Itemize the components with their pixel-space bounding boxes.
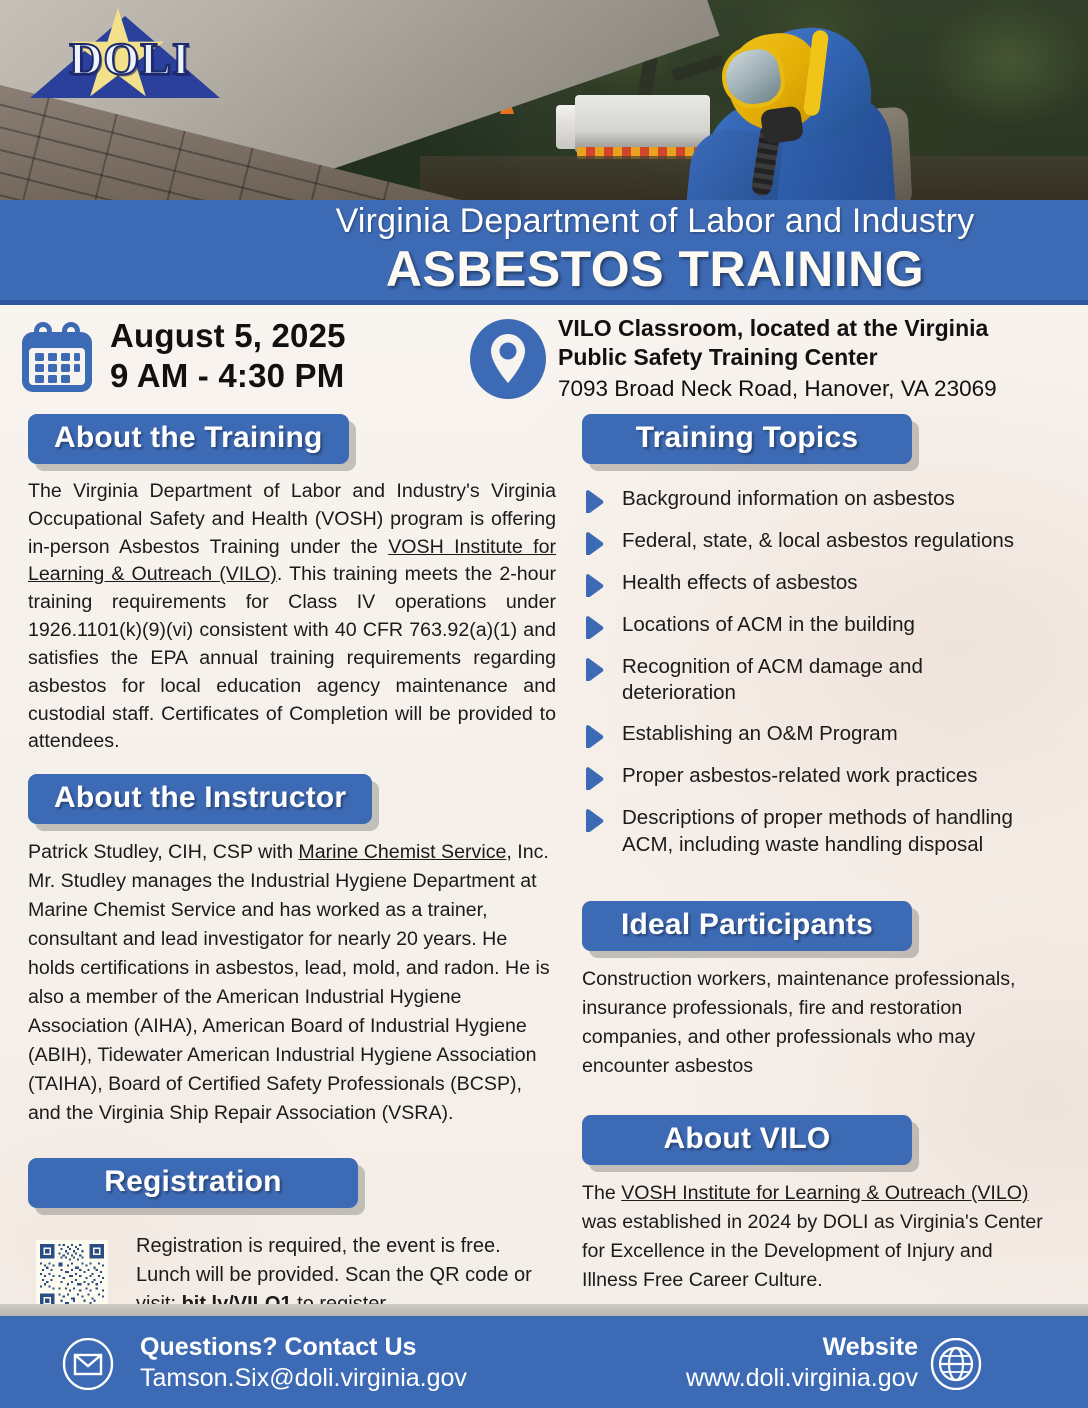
list-item: Locations of ACM in the building (582, 612, 1060, 639)
logo-wordmark: DOLI (30, 32, 230, 85)
about-vilo-text-a: The (582, 1182, 621, 1204)
footer: Questions? Contact Us Tamson.Six@doli.vi… (0, 1316, 1088, 1408)
about-instructor-heading: About the Instructor (28, 774, 372, 824)
about-vilo-text: The VOSH Institute for Learning & Outrea… (582, 1179, 1044, 1295)
venue-line-2: Public Safety Training Center (558, 343, 1058, 372)
footer-website: Website www.doli.virginia.gov (600, 1332, 918, 1395)
triangle-right-icon (582, 766, 608, 790)
registration-heading: Registration (28, 1158, 358, 1208)
globe-icon (930, 1338, 982, 1390)
footer-contact: Questions? Contact Us Tamson.Six@doli.vi… (140, 1332, 560, 1395)
about-training-heading: About the Training (28, 414, 349, 464)
envelope-icon (62, 1338, 114, 1390)
page-title: ASBESTOS TRAINING (240, 240, 1070, 298)
triangle-right-icon (582, 808, 608, 832)
list-item-label: Recognition of ACM damage and deteriorat… (622, 654, 952, 706)
list-item-label: Descriptions of proper methods of handli… (622, 805, 1017, 857)
triangle-right-icon (582, 489, 608, 513)
organization-name: Virginia Department of Labor and Industr… (240, 202, 1070, 241)
about-instructor-text-b: , Inc. Mr. Studley manages the Industria… (28, 841, 550, 1124)
training-topics-heading: Training Topics (582, 414, 912, 464)
venue-address: 7093 Broad Neck Road, Hanover, VA 23069 (558, 374, 1058, 403)
right-column: Training Topics Background information o… (582, 414, 1060, 1295)
about-training-heading-label: About the Training (54, 421, 323, 454)
qr-code[interactable] (36, 1240, 108, 1312)
registration-heading-label: Registration (104, 1165, 281, 1198)
about-vilo-heading-label: About VILO (664, 1122, 831, 1155)
footer-contact-email[interactable]: Tamson.Six@doli.virginia.gov (140, 1363, 560, 1394)
list-item: Federal, state, & local asbestos regulat… (582, 528, 1060, 555)
list-item-label: Proper asbestos-related work practices (622, 763, 978, 789)
triangle-right-icon (582, 657, 608, 681)
footer-website-url[interactable]: www.doli.virginia.gov (600, 1363, 918, 1394)
ideal-participants-text: Construction workers, maintenance profes… (582, 965, 1030, 1081)
title-band-underline (0, 300, 1088, 305)
footer-divider (0, 1304, 1088, 1316)
footer-contact-heading: Questions? Contact Us (140, 1332, 560, 1363)
about-instructor-text: Patrick Studley, CIH, CSP with Marine Ch… (28, 838, 556, 1128)
about-vilo-text-b: was established in 2024 by DOLI as Virgi… (582, 1211, 1043, 1291)
event-date-time: August 5, 2025 9 AM - 4:30 PM (110, 316, 450, 397)
list-item-label: Health effects of asbestos (622, 570, 858, 596)
marine-chemist-service-link[interactable]: Marine Chemist Service (298, 841, 506, 863)
event-location: VILO Classroom, located at the Virginia … (558, 314, 1058, 403)
list-item: Proper asbestos-related work practices (582, 763, 1060, 790)
vilo-link[interactable]: VOSH Institute for Learning & Outreach (… (621, 1182, 1028, 1204)
about-training-text-b: . This training meets the 2-hour trainin… (28, 563, 556, 752)
training-topics-heading-label: Training Topics (636, 421, 858, 454)
event-date: August 5, 2025 (110, 316, 450, 356)
event-time: 9 AM - 4:30 PM (110, 356, 450, 396)
list-item-label: Background information on asbestos (622, 486, 955, 512)
map-pin-icon (468, 318, 548, 400)
list-item-label: Locations of ACM in the building (622, 612, 915, 638)
hero-worker-in-ppe (690, 12, 940, 204)
list-item-label: Federal, state, & local asbestos regulat… (622, 528, 1014, 554)
ideal-participants-heading: Ideal Participants (582, 901, 912, 951)
poster-root: DOLI Virginia Department of Labor and In… (0, 0, 1088, 1408)
training-topics-list: Background information on asbestos Feder… (582, 486, 1060, 858)
list-item: Recognition of ACM damage and deteriorat… (582, 654, 1060, 706)
about-instructor-text-a: Patrick Studley, CIH, CSP with (28, 841, 298, 863)
ideal-participants-heading-label: Ideal Participants (621, 908, 873, 941)
triangle-right-icon (582, 615, 608, 639)
list-item: Background information on asbestos (582, 486, 1060, 513)
footer-website-heading: Website (600, 1332, 918, 1363)
left-column: About the Training The Virginia Departme… (28, 414, 556, 1319)
triangle-right-icon (582, 724, 608, 748)
list-item: Establishing an O&M Program (582, 721, 1060, 748)
about-training-text: The Virginia Department of Labor and Ind… (28, 478, 556, 756)
venue-line-1: VILO Classroom, located at the Virginia (558, 314, 1058, 343)
event-info-row: August 5, 2025 9 AM - 4:30 PM VILO Class… (0, 312, 1088, 408)
worker-filter-cartridge (760, 105, 804, 144)
list-item-label: Establishing an O&M Program (622, 721, 898, 747)
triangle-right-icon (582, 531, 608, 555)
about-instructor-heading-label: About the Instructor (54, 781, 346, 814)
doli-logo: DOLI (18, 6, 233, 100)
calendar-icon (18, 320, 96, 398)
triangle-right-icon (582, 573, 608, 597)
about-vilo-heading: About VILO (582, 1115, 912, 1165)
list-item: Health effects of asbestos (582, 570, 1060, 597)
list-item: Descriptions of proper methods of handli… (582, 805, 1060, 857)
